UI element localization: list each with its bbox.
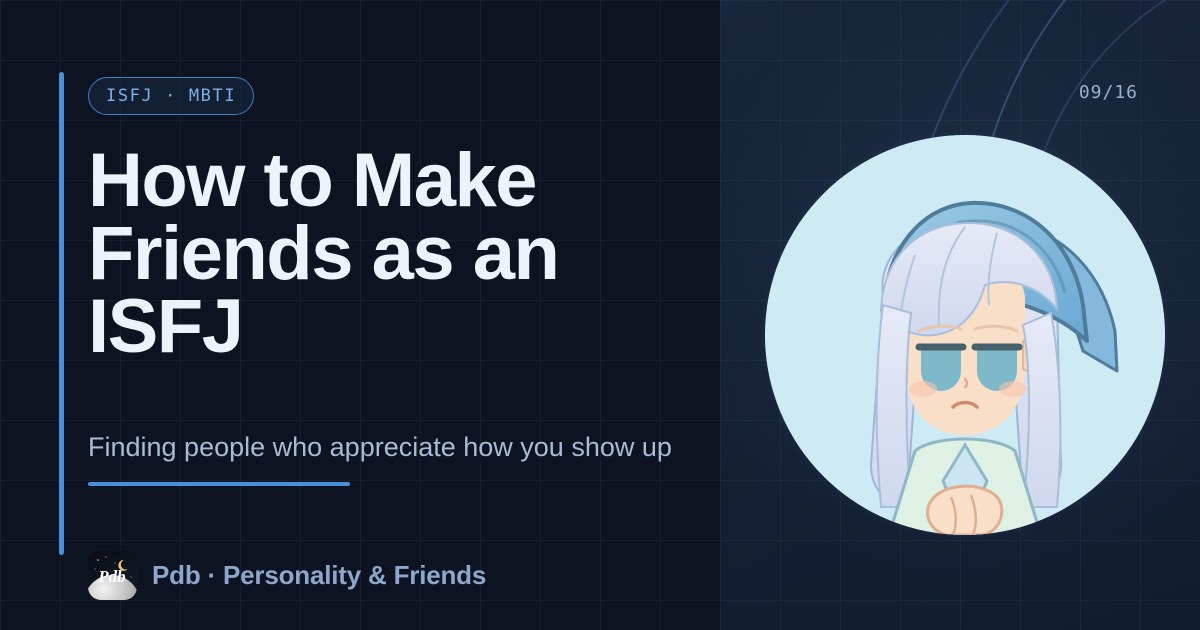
svg-text:Pdb: Pdb — [97, 567, 125, 586]
brand-footer[interactable]: Pdb Pdb · Personality & Friends — [88, 551, 486, 600]
avatar — [765, 135, 1165, 535]
mbti-type-badge[interactable]: ISFJ · MBTI — [88, 77, 254, 115]
accent-bar — [59, 72, 64, 555]
page-title: How to Make Friends as an ISFJ — [88, 145, 708, 364]
slide-counter: 09/16 — [1079, 82, 1138, 103]
brand-name: Pdb · Personality & Friends — [152, 560, 486, 591]
subtitle-underline — [88, 482, 350, 486]
poster-canvas: ISFJ · MBTI 09/16 How to Make Friends as… — [0, 0, 1200, 630]
page-subtitle: Finding people who appreciate how you sh… — [88, 432, 788, 463]
pdb-logo-icon: Pdb — [88, 551, 137, 600]
